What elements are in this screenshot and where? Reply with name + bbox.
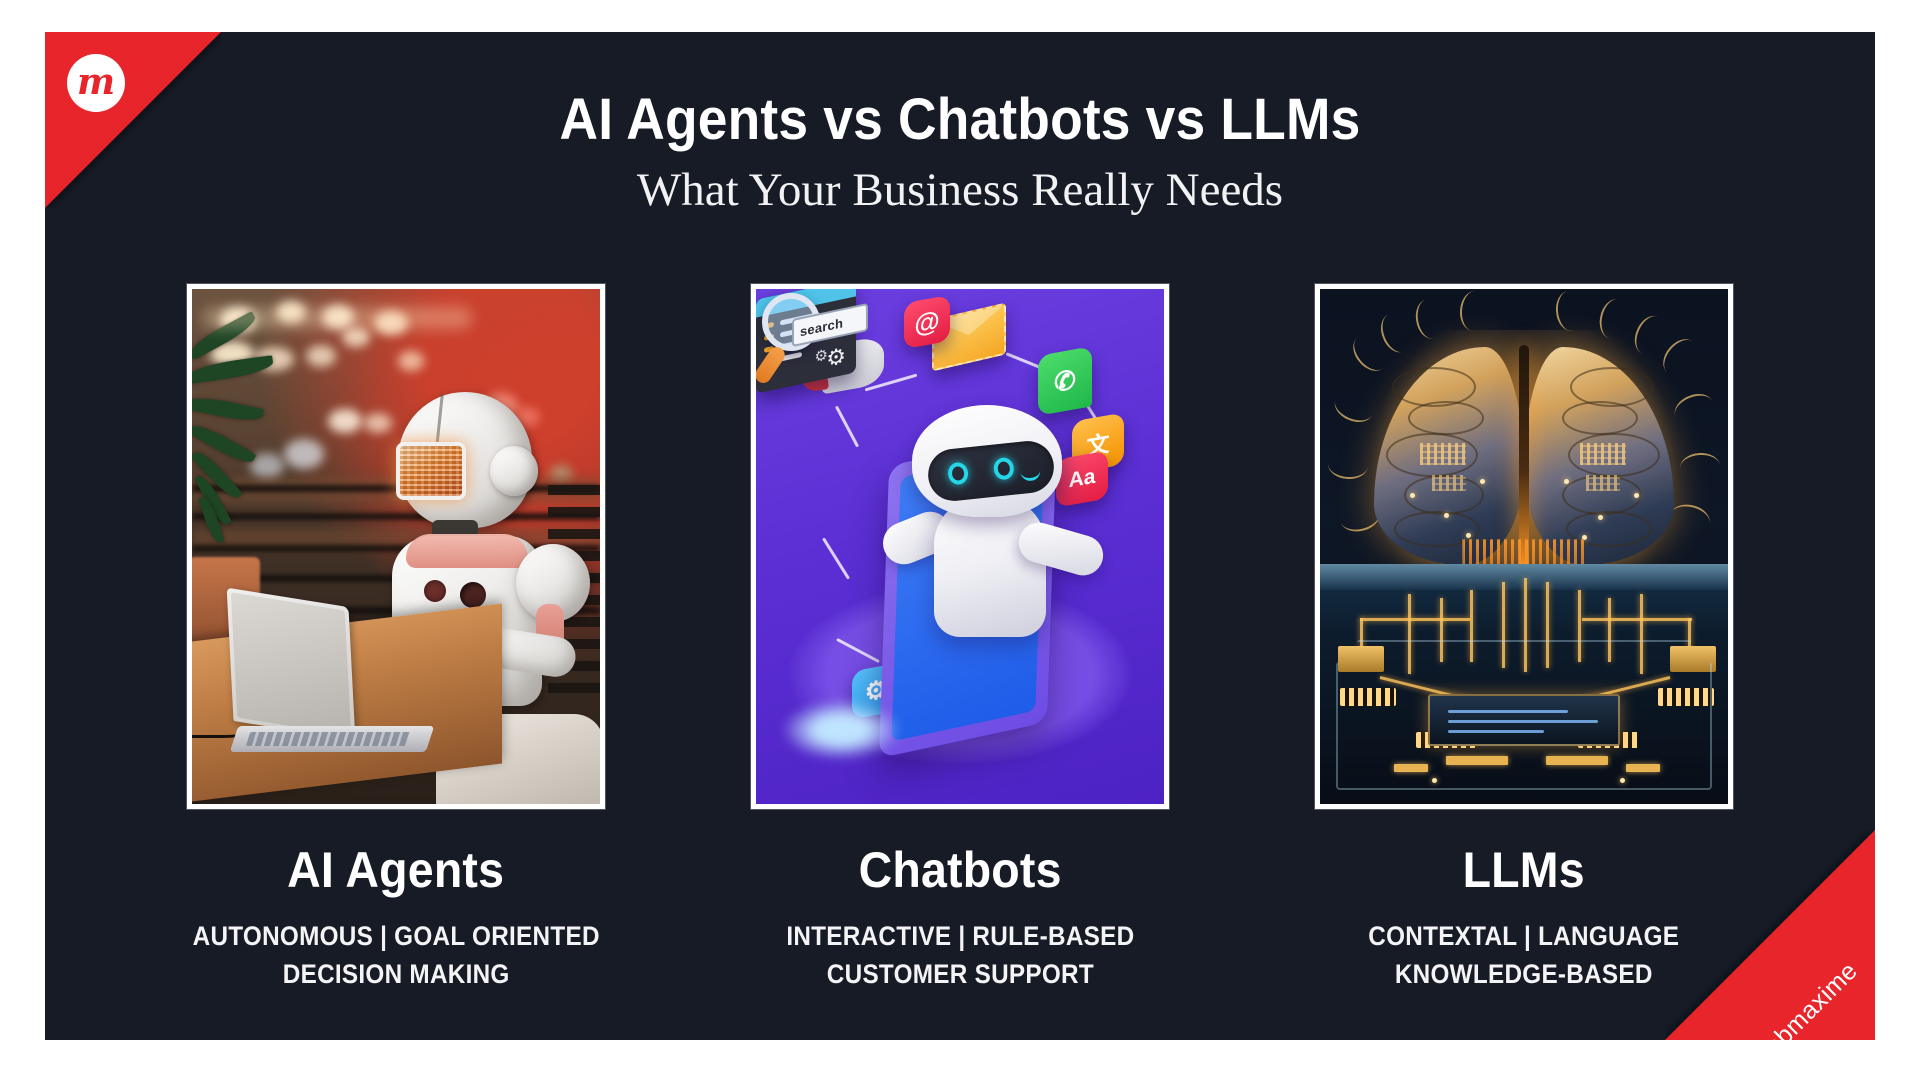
- card-ai-agents: AI Agents AUTONOMOUS | GOAL ORIENTED DEC…: [187, 284, 605, 994]
- page-subtitle: What Your Business Really Needs: [45, 165, 1875, 217]
- mobmaxime-monogram-icon[interactable]: m: [67, 54, 125, 112]
- card-tagline-chatbots: INTERACTIVE | RULE-BASED CUSTOMER SUPPOR…: [786, 917, 1134, 994]
- logo-letter: m: [77, 64, 115, 100]
- tagline-line-1: INTERACTIVE | RULE-BASED: [786, 917, 1134, 955]
- tagline-line-2: KNOWLEDGE-BASED: [1368, 955, 1679, 993]
- page-title: AI Agents vs Chatbots vs LLMs: [118, 90, 1802, 151]
- card-tagline-llms: CONTEXTAL | LANGUAGE KNOWLEDGE-BASED: [1368, 917, 1679, 994]
- search-magnifier-icon: search: [756, 383, 848, 479]
- card-chatbots: @ ✆ 文 Aa ⚙: [751, 284, 1169, 994]
- plant-decor: [192, 341, 306, 571]
- card-title-llms: LLMs: [1463, 845, 1585, 895]
- brain-hemisphere-left: [1374, 347, 1524, 565]
- card-tagline-ai-agents: AUTONOMOUS | GOAL ORIENTED DECISION MAKI…: [192, 917, 599, 994]
- tagline-line-1: AUTONOMOUS | GOAL ORIENTED: [192, 917, 599, 955]
- card-title-ai-agents: AI Agents: [288, 845, 505, 895]
- search-input-value: search: [800, 315, 843, 339]
- digital-brain-image: [1320, 289, 1728, 804]
- bottom-right-ribbon: mobmaxime: [1665, 830, 1875, 1040]
- tagline-line-1: CONTEXTAL | LANGUAGE: [1368, 917, 1679, 955]
- tagline-line-2: CUSTOMER SUPPORT: [786, 955, 1134, 993]
- comparison-cards: AI Agents AUTONOMOUS | GOAL ORIENTED DEC…: [45, 284, 1875, 994]
- card-title-chatbots: Chatbots: [858, 845, 1061, 895]
- infographic-page: AI Agents vs Chatbots vs LLMs What Your …: [0, 0, 1920, 1080]
- brain-hemisphere-right: [1524, 347, 1674, 565]
- chatbot-figure: [890, 405, 1080, 655]
- image-frame-chatbots: @ ✆ 文 Aa ⚙: [751, 284, 1169, 809]
- tagline-line-2: DECISION MAKING: [192, 955, 599, 993]
- chatbot-illustration-image: @ ✆ 文 Aa ⚙: [756, 289, 1164, 804]
- robot-visor-icon: [396, 442, 466, 500]
- laptop-icon: [227, 588, 356, 741]
- image-frame-ai-agents: [187, 284, 605, 809]
- image-frame-llms: [1315, 284, 1733, 809]
- robot-at-laptop-image: [192, 289, 600, 804]
- top-left-ribbon: m: [45, 32, 221, 208]
- circuit-board: [1320, 564, 1728, 804]
- dark-panel: AI Agents vs Chatbots vs LLMs What Your …: [45, 32, 1875, 1040]
- header: AI Agents vs Chatbots vs LLMs What Your …: [45, 90, 1875, 217]
